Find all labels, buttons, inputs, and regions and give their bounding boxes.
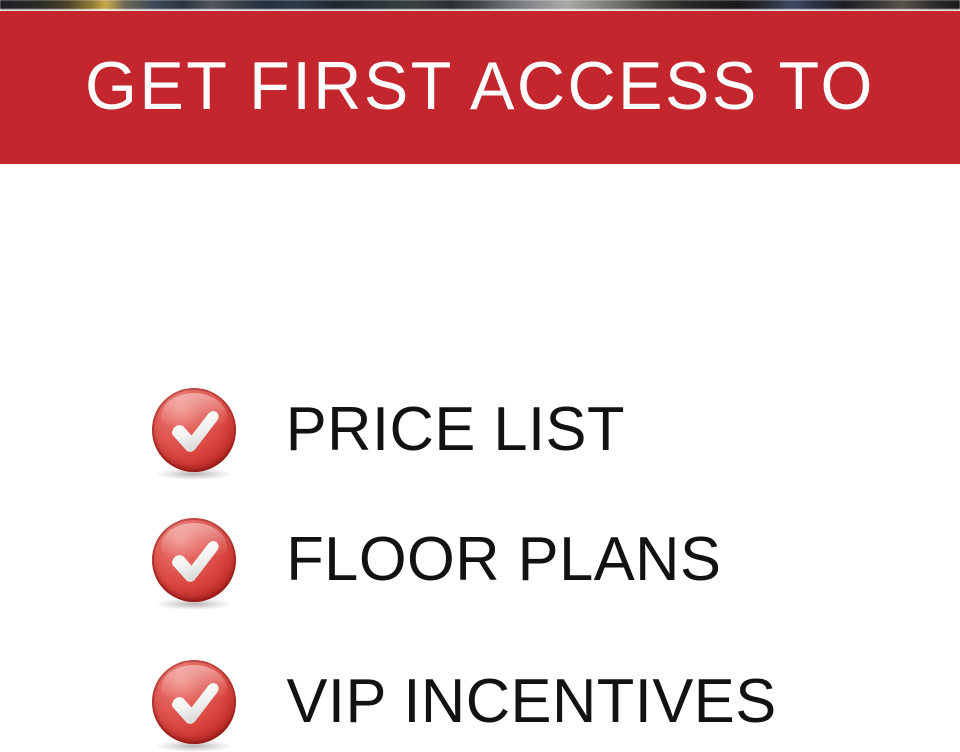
header-photo-strip xyxy=(0,0,960,11)
checkmark-glyph xyxy=(152,660,236,744)
list-item-label: FLOOR PLANS xyxy=(286,529,721,591)
headline-banner: GET FIRST ACCESS TO xyxy=(0,11,960,164)
benefits-list: PRICE LIST xyxy=(0,164,960,631)
list-item: VIP INCENTIVES xyxy=(152,660,779,744)
list-item-label: PRICE LIST xyxy=(286,399,625,461)
red-glossy-checkmark-icon xyxy=(152,660,236,744)
checkmark-glyph xyxy=(152,388,236,472)
red-glossy-checkmark-icon xyxy=(152,518,236,602)
promo-banner-page: GET FIRST ACCESS TO xyxy=(0,0,960,631)
list-item: FLOOR PLANS xyxy=(152,518,724,602)
checkmark-glyph xyxy=(152,518,236,602)
list-item: PRICE LIST xyxy=(152,388,627,472)
page-title: GET FIRST ACCESS TO xyxy=(85,52,875,124)
list-item-label: VIP INCENTIVES xyxy=(286,671,776,733)
red-glossy-checkmark-icon xyxy=(152,388,236,472)
